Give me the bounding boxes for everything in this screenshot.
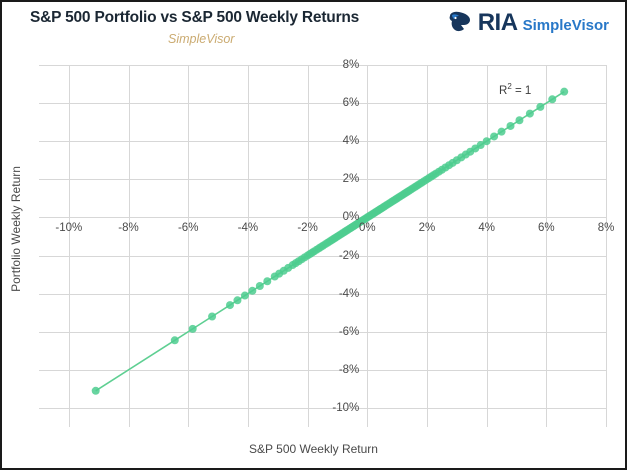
data-point [256, 282, 264, 290]
data-point [560, 88, 568, 96]
brand-logo: RIA SimpleVisor [447, 10, 609, 36]
logo-brand-text: RIA [478, 11, 518, 35]
data-point [507, 122, 515, 130]
x-tick-label: -4% [238, 222, 258, 234]
y-axis-title: Portfolio Weekly Return [9, 129, 23, 329]
scatter-series [39, 65, 606, 427]
data-point [490, 132, 498, 140]
data-point [526, 110, 534, 118]
y-tick-label: 6% [343, 97, 360, 109]
gridline-vertical [606, 65, 607, 427]
y-tick-label: 0% [343, 211, 360, 223]
x-tick-label: 2% [419, 222, 436, 234]
x-tick-label: -6% [178, 222, 198, 234]
data-point [548, 95, 556, 103]
r2-value: = 1 [512, 85, 532, 97]
data-point [226, 301, 234, 309]
y-tick-label: 2% [343, 173, 360, 185]
data-point [248, 287, 256, 295]
data-point [498, 128, 506, 136]
y-tick-label: 4% [343, 135, 360, 147]
data-point [263, 277, 271, 285]
x-axis-title: S&P 500 Weekly Return [2, 442, 625, 456]
y-tick-label: -10% [332, 402, 359, 414]
data-point [171, 336, 179, 344]
data-point [92, 387, 100, 395]
ria-eagle-icon [447, 10, 473, 36]
x-tick-label: -8% [118, 222, 138, 234]
y-tick-label: -6% [339, 326, 359, 338]
y-tick-label: 8% [343, 59, 360, 71]
data-point [189, 325, 197, 333]
y-tick-label: -2% [339, 250, 359, 262]
plot-area [39, 65, 606, 427]
logo-product-text: SimpleVisor [523, 13, 609, 33]
data-point [233, 296, 241, 304]
y-tick-label: -4% [339, 288, 359, 300]
data-point [483, 137, 491, 145]
r-squared-annotation: R2 = 1 [499, 82, 531, 97]
page-title: S&P 500 Portfolio vs S&P 500 Weekly Retu… [30, 9, 359, 27]
page-subtitle: SimpleVisor [168, 32, 234, 46]
x-tick-label: 6% [538, 222, 555, 234]
data-point [241, 292, 249, 300]
x-tick-label: 4% [478, 222, 495, 234]
data-point [208, 312, 216, 320]
data-point [515, 116, 523, 124]
chart-page: S&P 500 Portfolio vs S&P 500 Weekly Retu… [0, 0, 627, 470]
x-tick-label: -2% [297, 222, 317, 234]
x-tick-label: -10% [55, 222, 82, 234]
x-tick-label: 8% [598, 222, 615, 234]
x-tick-label: 0% [359, 222, 376, 234]
y-tick-label: -8% [339, 364, 359, 376]
data-point [536, 103, 544, 111]
